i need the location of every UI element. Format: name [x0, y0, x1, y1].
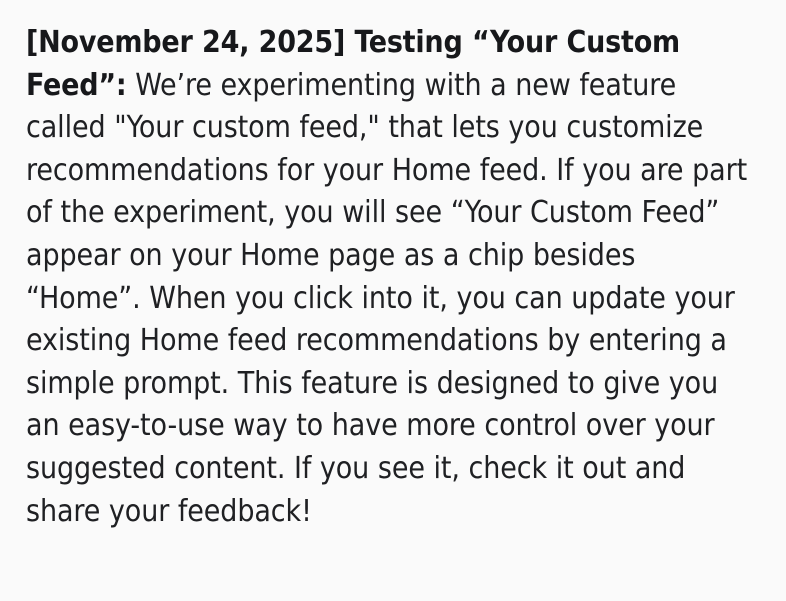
changelog-entry: [November 24, 2025] Testing “Your Custom… [0, 0, 786, 601]
changelog-body: We’re experimenting with a new feature c… [26, 68, 747, 529]
changelog-paragraph: [November 24, 2025] Testing “Your Custom… [26, 22, 758, 533]
